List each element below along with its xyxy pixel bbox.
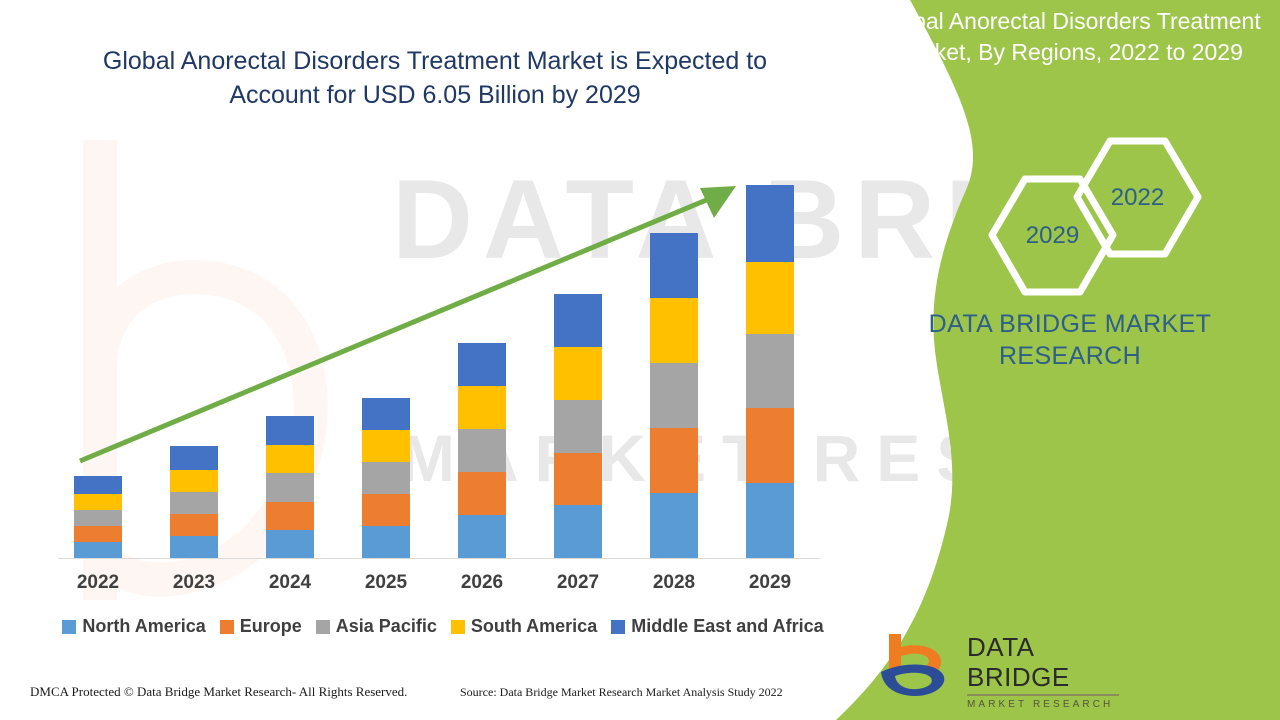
logo-subtitle: MARKET RESEARCH	[967, 698, 1127, 711]
bar-segment	[746, 483, 794, 558]
legend-label: South America	[471, 616, 597, 637]
bar-segment	[266, 445, 314, 473]
logo-wordmark: DATA BRIDGE MARKET RESEARCH	[967, 632, 1127, 711]
bar-2028	[650, 233, 698, 558]
bar-segment	[74, 510, 122, 526]
bar-segment	[170, 514, 218, 536]
bar-2026	[458, 343, 506, 558]
legend-swatch-icon	[451, 620, 465, 634]
bar-segment	[266, 473, 314, 501]
legend-item[interactable]: Middle East and Africa	[611, 616, 823, 637]
footer: DMCA Protected © Data Bridge Market Rese…	[0, 684, 840, 708]
company-logo: DATA BRIDGE MARKET RESEARCH	[875, 628, 1125, 700]
legend-swatch-icon	[220, 620, 234, 634]
legend-item[interactable]: South America	[451, 616, 597, 637]
bar-segment	[362, 398, 410, 431]
bar-segment	[650, 428, 698, 493]
growth-arrow-icon	[0, 0, 850, 600]
bar-2022	[74, 476, 122, 558]
legend-swatch-icon	[62, 620, 76, 634]
legend-label: North America	[82, 616, 205, 637]
bar-segment	[266, 502, 314, 530]
bar-segment	[170, 446, 218, 469]
bar-2023	[170, 446, 218, 558]
green-panel-content: Global Anorectal Disorders Treatment Mar…	[855, 0, 1280, 720]
bar-segment	[746, 408, 794, 483]
bar-segment	[746, 185, 794, 262]
legend-item[interactable]: Asia Pacific	[316, 616, 437, 637]
bar-segment	[170, 536, 218, 558]
bar-2027	[554, 294, 602, 558]
x-tick-2029: 2029	[730, 572, 810, 594]
legend-swatch-icon	[316, 620, 330, 634]
copyright-text: DMCA Protected © Data Bridge Market Rese…	[30, 684, 407, 700]
x-tick-2027: 2027	[538, 572, 618, 594]
x-tick-2023: 2023	[154, 572, 234, 594]
legend-swatch-icon	[611, 620, 625, 634]
bar-2025	[362, 398, 410, 558]
bar-segment	[362, 494, 410, 526]
hexagon-2022: 2022	[1070, 135, 1205, 260]
legend-label: Europe	[240, 616, 302, 637]
legend-label: Middle East and Africa	[631, 616, 823, 637]
bar-segment	[266, 530, 314, 558]
bar-segment	[458, 429, 506, 472]
data-bridge-logo-mark-icon	[875, 628, 961, 700]
hexagon-2022-label: 2022	[1111, 184, 1164, 212]
bar-segment	[554, 453, 602, 506]
logo-name: DATA BRIDGE	[967, 632, 1127, 692]
bar-segment	[74, 526, 122, 542]
bar-segment	[266, 416, 314, 445]
bar-segment	[650, 493, 698, 558]
bar-segment	[170, 492, 218, 514]
bar-segment	[362, 462, 410, 494]
hexagon-group: 2029 2022	[985, 135, 1215, 270]
hexagon-2029-label: 2029	[1026, 222, 1079, 250]
bar-segment	[170, 470, 218, 492]
bar-segment	[362, 430, 410, 462]
logo-divider	[967, 694, 1119, 696]
x-tick-2022: 2022	[58, 572, 138, 594]
bar-segment	[650, 298, 698, 363]
x-tick-2028: 2028	[634, 572, 714, 594]
legend-item[interactable]: North America	[62, 616, 205, 637]
infographic-canvas: DATA BRIDGE MARKET RESEARCH Global Anore…	[0, 0, 1280, 720]
legend-label: Asia Pacific	[336, 616, 437, 637]
bar-segment	[458, 343, 506, 387]
bar-segment	[458, 386, 506, 429]
x-tick-2026: 2026	[442, 572, 522, 594]
bar-segment	[74, 494, 122, 510]
panel-title: Global Anorectal Disorders Treatment Mar…	[863, 6, 1275, 68]
bar-2024	[266, 416, 314, 558]
x-tick-2024: 2024	[250, 572, 330, 594]
bar-segment	[458, 472, 506, 515]
bar-segment	[74, 476, 122, 494]
bar-segment	[554, 294, 602, 347]
legend-item[interactable]: Europe	[220, 616, 302, 637]
brand-name: DATA BRIDGE MARKET RESEARCH	[875, 308, 1265, 372]
bar-segment	[554, 347, 602, 400]
x-axis-line	[58, 558, 820, 559]
bar-segment	[746, 262, 794, 334]
bar-segment	[458, 515, 506, 558]
bar-segment	[746, 334, 794, 408]
bar-segment	[74, 542, 122, 558]
bar-segment	[554, 400, 602, 453]
bar-segment	[650, 363, 698, 428]
x-tick-2025: 2025	[346, 572, 426, 594]
bar-segment	[362, 526, 410, 558]
stacked-bar-chart: 20222023202420252026202720282029	[0, 0, 850, 720]
chart-legend: North AmericaEuropeAsia PacificSouth Ame…	[58, 616, 828, 637]
bar-segment	[554, 505, 602, 558]
source-text: Source: Data Bridge Market Research Mark…	[460, 685, 783, 700]
bar-2029	[746, 185, 794, 558]
bar-segment	[650, 233, 698, 298]
